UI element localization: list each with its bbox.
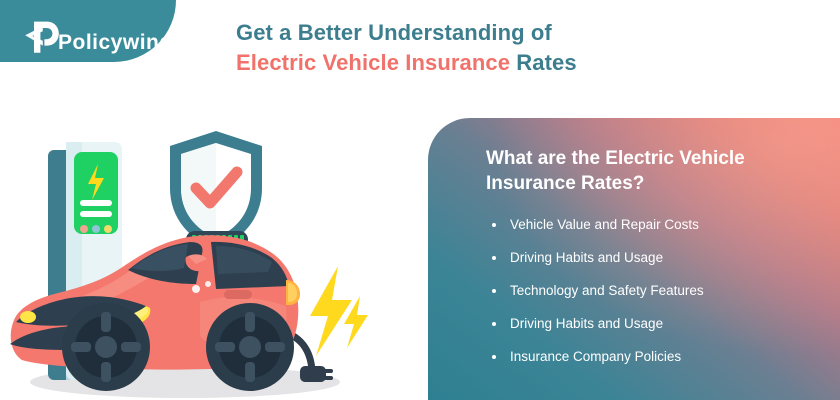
brand-name: Policywings: [58, 32, 185, 56]
panel-title: What are the Electric Vehicle Insurance …: [486, 146, 806, 196]
ev-insurance-banner: Policywings Get a Better Understanding o…: [0, 0, 840, 400]
list-item: Driving Habits and Usage: [490, 251, 820, 265]
list-item: Driving Habits and Usage: [490, 317, 820, 331]
headline-line-2: Electric Vehicle Insurance Rates: [236, 48, 577, 78]
car-wheel-front: [62, 303, 150, 391]
list-item: Insurance Company Policies: [490, 350, 820, 364]
headline: Get a Better Understanding of Electric V…: [236, 18, 577, 78]
panel-list: Vehicle Value and Repair Costs Driving H…: [490, 218, 820, 383]
info-panel: What are the Electric Vehicle Insurance …: [428, 118, 840, 400]
brand-logo[interactable]: Policywings: [22, 16, 185, 56]
headline-rest: Rates: [510, 50, 577, 75]
car-wheel-rear: [206, 303, 294, 391]
policywings-p-logo-icon: [22, 16, 62, 56]
lightning-bolt-icon: [310, 266, 352, 356]
headline-highlight: Electric Vehicle Insurance: [236, 50, 510, 75]
list-item: Technology and Safety Features: [490, 284, 820, 298]
ev-illustration: [0, 84, 430, 400]
headline-line-1: Get a Better Understanding of: [236, 18, 577, 48]
list-item: Vehicle Value and Repair Costs: [490, 218, 820, 232]
